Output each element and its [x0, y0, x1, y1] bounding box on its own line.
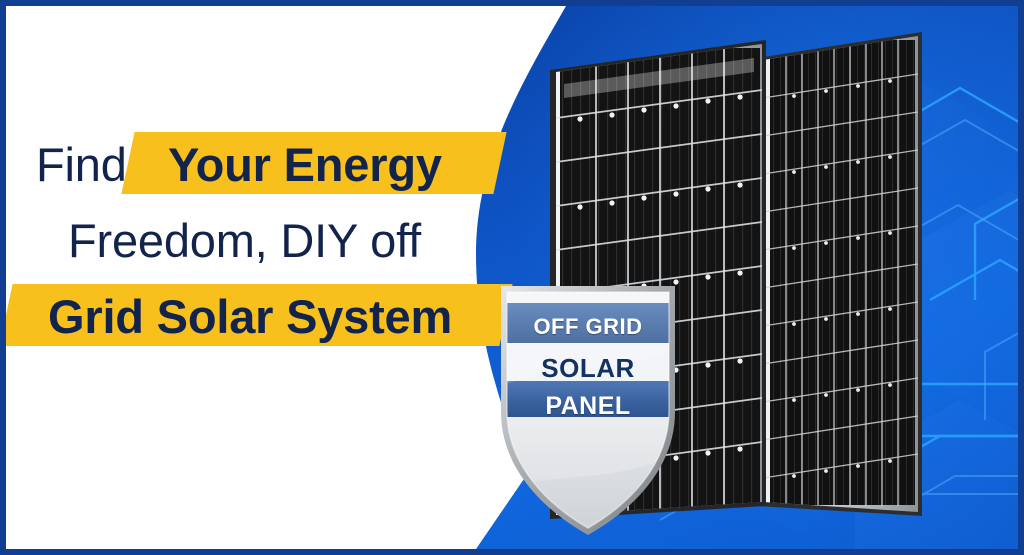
- headline-line-2-plain: Freedom, DIY off: [68, 202, 421, 278]
- headline-line-1: Find Your Energy: [0, 126, 530, 202]
- headline-block: Find Your Energy Freedom, DIY off Grid S…: [0, 126, 530, 354]
- solar-panel-back: [757, 28, 922, 516]
- headline-line-2: Freedom, DIY off: [0, 202, 530, 278]
- headline-line-3-highlight: Grid Solar System: [48, 278, 452, 354]
- headline-line-1-plain: Find: [36, 126, 127, 202]
- solar-promo-banner: Find Your Energy Freedom, DIY off Grid S…: [0, 0, 1024, 555]
- headline-line-1-highlight: Your Energy: [168, 126, 442, 202]
- off-grid-solar-panel-shield: OFF GRID SOLAR PANEL: [498, 283, 678, 536]
- headline-line-3: Grid Solar System: [0, 278, 530, 354]
